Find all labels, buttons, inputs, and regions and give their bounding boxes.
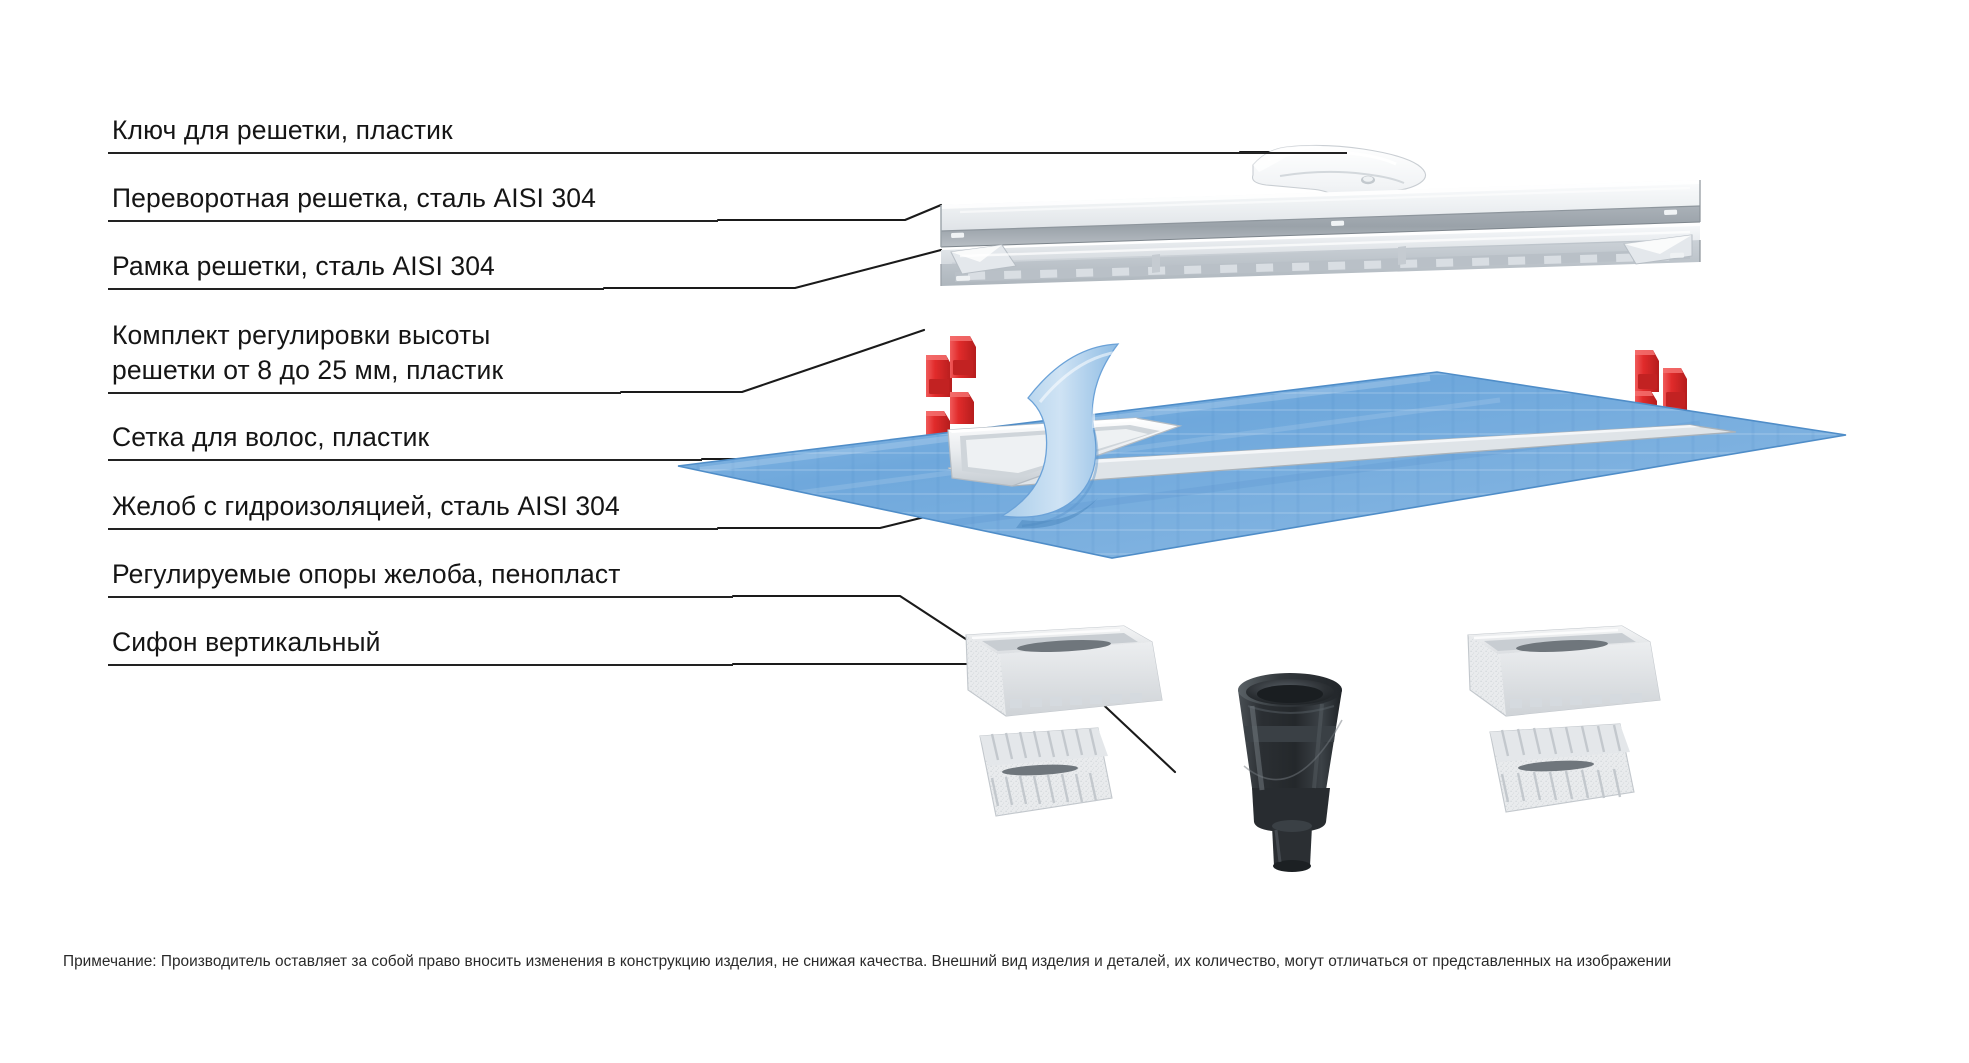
diagram-canvas: Ключ для решетки, пластик Переворотная р…: [0, 0, 1969, 1063]
label-grate-key: Ключ для решетки, пластик: [112, 113, 453, 148]
part-vertical-siphon: [1238, 673, 1342, 872]
height-clip: [950, 392, 974, 424]
label-reversible-grate: Переворотная решетка, сталь AISI 304: [112, 181, 596, 216]
leader-height-kit: [621, 330, 924, 392]
label-rule-height-kit: [108, 392, 621, 394]
height-clip: [926, 355, 952, 397]
label-vertical-siphon: Сифон вертикальный: [112, 625, 381, 660]
label-rule-reversible-grate: [108, 220, 718, 222]
label-channel-body: Желоб с гидроизоляцией, сталь AISI 304: [112, 489, 620, 524]
label-rule-foam-supports: [108, 596, 733, 598]
label-rule-hair-strainer: [108, 459, 702, 461]
label-hair-strainer: Сетка для волос, пластик: [112, 420, 429, 455]
part-foam-support: [1490, 724, 1634, 812]
label-rule-vertical-siphon: [108, 664, 733, 666]
label-height-kit: Комплект регулировки высоты решетки от 8…: [112, 318, 503, 388]
label-rule-grate-frame: [108, 288, 604, 290]
label-rule-channel-body: [108, 528, 718, 530]
part-foam-support: [966, 626, 1162, 716]
label-foam-supports: Регулируемые опоры желоба, пенопласт: [112, 557, 620, 592]
height-clip: [1663, 368, 1687, 410]
leader-reversible-grate: [718, 205, 941, 220]
label-rule-grate-key: [108, 152, 1347, 154]
part-foam-support: [980, 728, 1112, 816]
leader-grate-frame: [604, 250, 941, 288]
disclaimer-footnote: Примечание: Производитель оставляет за с…: [63, 953, 1923, 971]
height-clip: [950, 336, 976, 378]
parts-illustration: [0, 0, 1969, 1063]
part-height-clips-left: [926, 336, 976, 443]
height-clip: [1635, 350, 1659, 392]
label-grate-frame: Рамка решетки, сталь AISI 304: [112, 249, 495, 284]
part-foam-support: [1468, 626, 1660, 716]
